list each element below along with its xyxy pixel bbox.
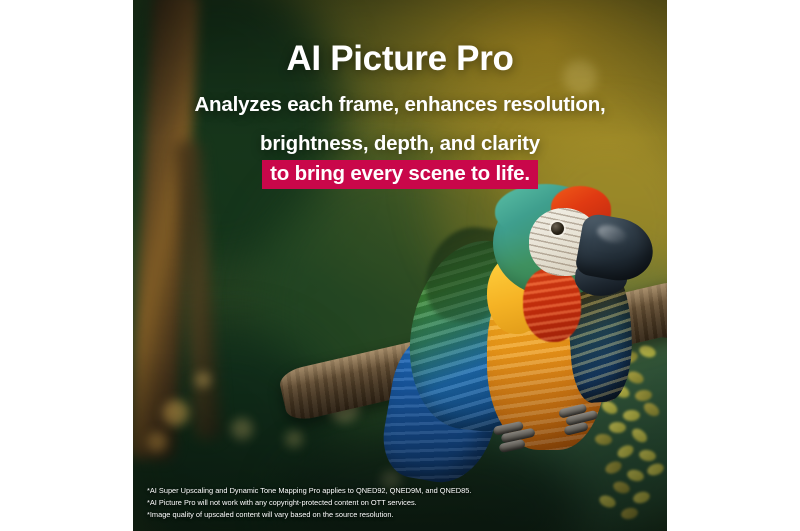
footnote-3: *Image quality of upscaled content will …: [147, 509, 471, 521]
bokeh-light: [163, 400, 189, 426]
bokeh-light: [195, 372, 211, 388]
parrot-eye: [551, 222, 564, 235]
leaf: [620, 506, 639, 520]
parrot-throat: [523, 268, 581, 342]
leaf: [641, 400, 661, 419]
banner-stage: AI Picture Pro Analyzes each frame, enha…: [0, 0, 800, 531]
highlight-text: to bring every scene to life.: [262, 160, 538, 189]
subtitle-line-1: Analyzes each frame, enhances resolution…: [133, 79, 667, 118]
leaf: [646, 462, 666, 478]
highlight-row: to bring every scene to life.: [133, 160, 667, 189]
headline-block: AI Picture Pro Analyzes each frame, enha…: [133, 0, 667, 189]
page-title: AI Picture Pro: [133, 0, 667, 79]
leaf: [598, 493, 618, 510]
macaw-parrot: [383, 182, 643, 452]
leaf: [626, 468, 645, 483]
leaf: [604, 459, 624, 476]
leaf: [632, 490, 651, 505]
footnotes: *AI Super Upscaling and Dynamic Tone Map…: [147, 485, 471, 521]
footnote-2: *AI Picture Pro will not work with any c…: [147, 497, 471, 509]
bokeh-light: [147, 432, 167, 452]
leaf: [612, 480, 632, 496]
hero-photo: AI Picture Pro Analyzes each frame, enha…: [133, 0, 667, 531]
subtitle-line-2: brightness, depth, and clarity: [133, 118, 667, 157]
bokeh-light: [285, 430, 303, 448]
bokeh-light: [231, 418, 253, 440]
footnote-1: *AI Super Upscaling and Dynamic Tone Map…: [147, 485, 471, 497]
